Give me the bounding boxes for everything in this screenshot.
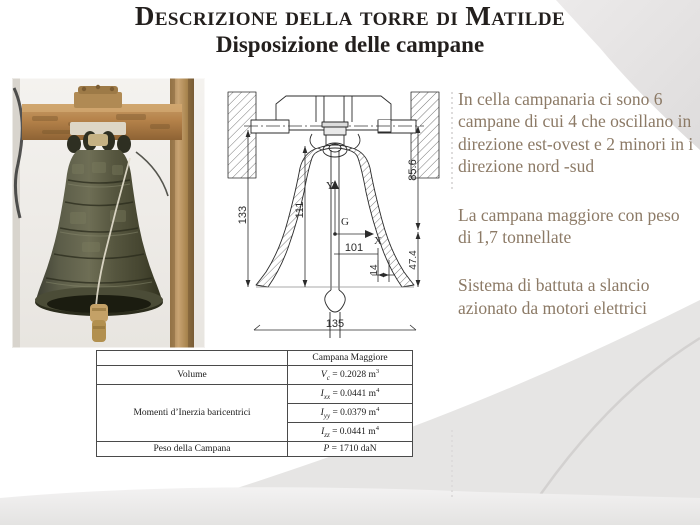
- slide-canvas: Descrizione della torre di Matilde Dispo…: [0, 0, 700, 525]
- row-value-volume: Vc = 0.2028 m3: [288, 366, 413, 385]
- sub-ixx: xx: [324, 393, 330, 401]
- unit-iyy: m: [369, 408, 376, 418]
- dim-label-135: 135: [326, 318, 344, 330]
- val-izz: 0.0441: [340, 427, 366, 437]
- dim-label-111: 111: [294, 202, 306, 219]
- axis-label-x: X: [374, 235, 382, 247]
- sub-iyy: yy: [324, 412, 330, 420]
- exp-volume: 3: [376, 368, 379, 375]
- dim-label-47-4: 47.4: [408, 250, 419, 270]
- row-value-weight: P = 1710 daN: [288, 442, 413, 457]
- table-row: Volume Vc = 0.2028 m3: [97, 366, 413, 385]
- row-label-volume: Volume: [97, 366, 288, 385]
- table-header-row: Campana Maggiore: [97, 351, 413, 366]
- paragraph-bell-cell: In cella campanaria ci sono 6 campane di…: [458, 88, 696, 178]
- row-value-ixx: Ixx = 0.0441 m4: [288, 385, 413, 404]
- exp-iyy: 4: [376, 406, 379, 413]
- dim-label-14: 14: [369, 264, 380, 276]
- unit-izz: m: [368, 427, 375, 437]
- axis-label-y: Y: [326, 180, 334, 192]
- paragraph-bell-weight: La campana maggiore con peso di 1,7 tonn…: [458, 204, 696, 249]
- centroid-label-g: G: [341, 216, 349, 228]
- row-label-inertia: Momenti d’Inerzia baricentrici: [97, 385, 288, 442]
- paragraph-ringing-system: Sistema di battuta a slancio azionato da…: [458, 274, 696, 319]
- bell-properties-table: Campana Maggiore Volume Vc = 0.2028 m3 M…: [96, 350, 413, 457]
- eq-ixx: =: [332, 389, 337, 399]
- bell-technical-drawing: 133 111 101: [226, 82, 441, 344]
- page-subtitle: Disposizione delle campane: [0, 32, 700, 57]
- eq-izz: =: [332, 427, 337, 437]
- val-ixx: 0.0441: [340, 389, 366, 399]
- description-text-column: In cella campanaria ci sono 6 campane di…: [458, 88, 696, 319]
- swoosh-curve-line: [520, 338, 700, 525]
- photo-clapper: [90, 304, 108, 342]
- sym-weight: P: [323, 444, 329, 454]
- table-row: Peso della Campana P = 1710 daN: [97, 442, 413, 457]
- table-header-campana-maggiore: Campana Maggiore: [288, 351, 413, 366]
- val-weight: 1710: [339, 444, 358, 454]
- val-volume: 0.2028: [340, 370, 366, 380]
- dim-label-133: 133: [237, 206, 249, 224]
- title-block: Descrizione della torre di Matilde Dispo…: [0, 2, 700, 58]
- dim-47-4: 47.4: [408, 232, 420, 287]
- val-iyy: 0.0379: [340, 408, 366, 418]
- page-title: Descrizione della torre di Matilde: [0, 2, 700, 30]
- eq-volume: =: [332, 370, 337, 380]
- exp-izz: 4: [376, 425, 379, 432]
- unit-weight: daN: [361, 444, 377, 454]
- dim-label-85-6: 85.6: [407, 159, 419, 180]
- table-row: Momenti d’Inerzia baricentrici Ixx = 0.0…: [97, 385, 413, 404]
- dim-135: 135: [254, 318, 416, 330]
- drawing-wall-left: [228, 92, 256, 178]
- table-header-blank-cell: [97, 351, 288, 366]
- bell-photograph: [12, 78, 205, 348]
- sub-volume: c: [327, 374, 330, 382]
- eq-iyy: =: [332, 408, 337, 418]
- swoosh-bottom-band: [0, 487, 700, 525]
- drawing-clapper: [325, 150, 345, 338]
- row-value-izz: Izz = 0.0441 m4: [288, 423, 413, 442]
- sub-izz: zz: [324, 431, 329, 439]
- exp-ixx: 4: [376, 387, 379, 394]
- unit-volume: m: [368, 370, 375, 380]
- row-value-iyy: Iyy = 0.0379 m4: [288, 404, 413, 423]
- eq-weight: =: [332, 444, 337, 454]
- row-label-weight: Peso della Campana: [97, 442, 288, 457]
- dim-label-101: 101: [345, 242, 363, 254]
- unit-ixx: m: [369, 389, 376, 399]
